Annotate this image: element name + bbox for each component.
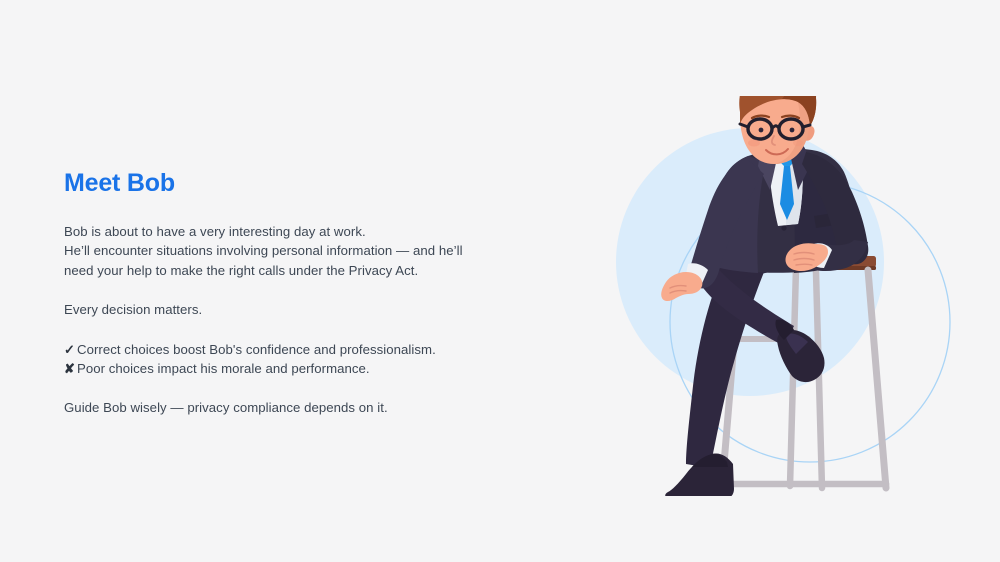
text-content-block: Meet Bob Bob is about to have a very int… xyxy=(64,168,534,418)
intro-line-1: Bob is about to have a very interesting … xyxy=(64,222,534,241)
emphasis-paragraph: Every decision matters. xyxy=(64,300,534,319)
outcome-positive-line: ✓Correct choices boost Bob's confidence … xyxy=(64,340,534,359)
intro-paragraph: Bob is about to have a very interesting … xyxy=(64,222,534,280)
slide-canvas: Meet Bob Bob is about to have a very int… xyxy=(0,0,1000,562)
cheek-right xyxy=(793,140,803,146)
eye-left xyxy=(759,128,764,133)
check-icon: ✓ xyxy=(64,340,77,359)
eye-right xyxy=(790,128,795,133)
closing-line: Guide Bob wisely — privacy compliance de… xyxy=(64,398,534,417)
jacket-button xyxy=(781,225,786,230)
outcomes-paragraph: ✓Correct choices boost Bob's confidence … xyxy=(64,340,534,379)
cheek-left xyxy=(748,140,760,147)
outcome-negative-line: ✘Poor choices impact his morale and perf… xyxy=(64,359,534,378)
page-title: Meet Bob xyxy=(64,168,534,198)
cross-icon: ✘ xyxy=(64,359,77,378)
intro-line-2: He’ll encounter situations involving per… xyxy=(64,241,534,260)
outcome-positive-text: Correct choices boost Bob's confidence a… xyxy=(77,342,436,357)
emphasis-line: Every decision matters. xyxy=(64,300,534,319)
closing-paragraph: Guide Bob wisely — privacy compliance de… xyxy=(64,398,534,417)
businessman-illustration-svg xyxy=(600,96,980,496)
outcome-negative-text: Poor choices impact his morale and perfo… xyxy=(77,361,370,376)
businessman-illustration xyxy=(600,96,980,496)
intro-line-3: need your help to make the right calls u… xyxy=(64,261,534,280)
